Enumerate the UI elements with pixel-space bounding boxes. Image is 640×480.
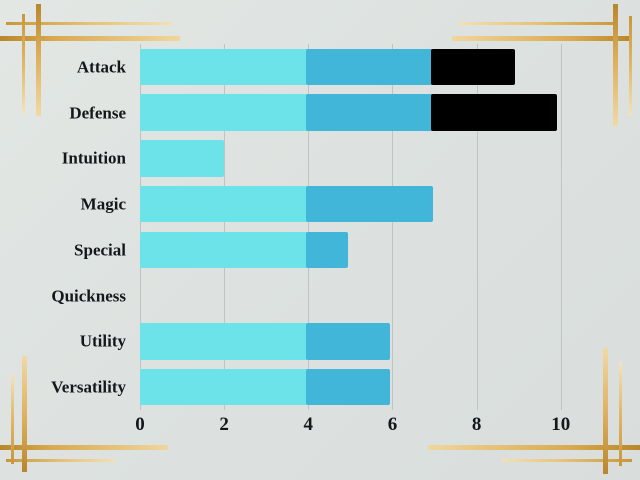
bar-rows (140, 44, 586, 410)
y-axis-label-special: Special (74, 241, 126, 258)
y-axis-label-magic: Magic (81, 196, 126, 213)
x-axis-label-0: 0 (135, 414, 145, 437)
bar-segment-high[interactable] (431, 49, 515, 86)
x-axis-label-8: 8 (472, 414, 482, 437)
bar-segment-mid[interactable] (306, 186, 432, 223)
bar-segment-base[interactable] (140, 369, 308, 406)
bar-segment-mid[interactable] (306, 232, 348, 269)
y-axis-label-defense: Defense (69, 104, 126, 121)
y-axis-label-quickness: Quickness (51, 287, 126, 304)
y-axis-label-attack: Attack (77, 58, 126, 75)
bar-segment-mid[interactable] (306, 49, 432, 86)
bar-segment-base[interactable] (140, 49, 308, 86)
bar-segment-base[interactable] (140, 232, 308, 269)
bar-row[interactable] (140, 186, 586, 223)
bar-row[interactable] (140, 140, 586, 177)
bar-row[interactable] (140, 277, 586, 314)
bar-segment-mid[interactable] (306, 94, 432, 131)
bar-row[interactable] (140, 323, 586, 360)
bar-row[interactable] (140, 94, 586, 131)
x-axis-label-2: 2 (219, 414, 229, 437)
y-axis-tick-labels: AttackDefenseIntuitionMagicSpecialQuickn… (0, 44, 132, 410)
bar-segment-high[interactable] (431, 94, 557, 131)
bar-row[interactable] (140, 49, 586, 86)
bar-row[interactable] (140, 232, 586, 269)
x-axis-label-4: 4 (304, 414, 314, 437)
chart-page: AttackDefenseIntuitionMagicSpecialQuickn… (0, 0, 640, 480)
x-axis-label-10: 10 (551, 414, 570, 437)
y-axis-label-intuition: Intuition (62, 150, 126, 167)
stacked-bar-chart: AttackDefenseIntuitionMagicSpecialQuickn… (0, 0, 640, 480)
bar-segment-mid[interactable] (306, 323, 390, 360)
x-axis-tick-labels: 0246810 (140, 414, 586, 444)
bar-segment-base[interactable] (140, 94, 308, 131)
bar-segment-mid[interactable] (306, 369, 390, 406)
bar-segment-base[interactable] (140, 140, 224, 177)
plot-area (140, 44, 586, 410)
y-axis-label-versatility: Versatility (51, 379, 126, 396)
bar-segment-base[interactable] (140, 323, 308, 360)
y-axis-label-utility: Utility (80, 333, 126, 350)
bar-segment-base[interactable] (140, 186, 308, 223)
x-axis-label-6: 6 (388, 414, 398, 437)
bar-row[interactable] (140, 369, 586, 406)
